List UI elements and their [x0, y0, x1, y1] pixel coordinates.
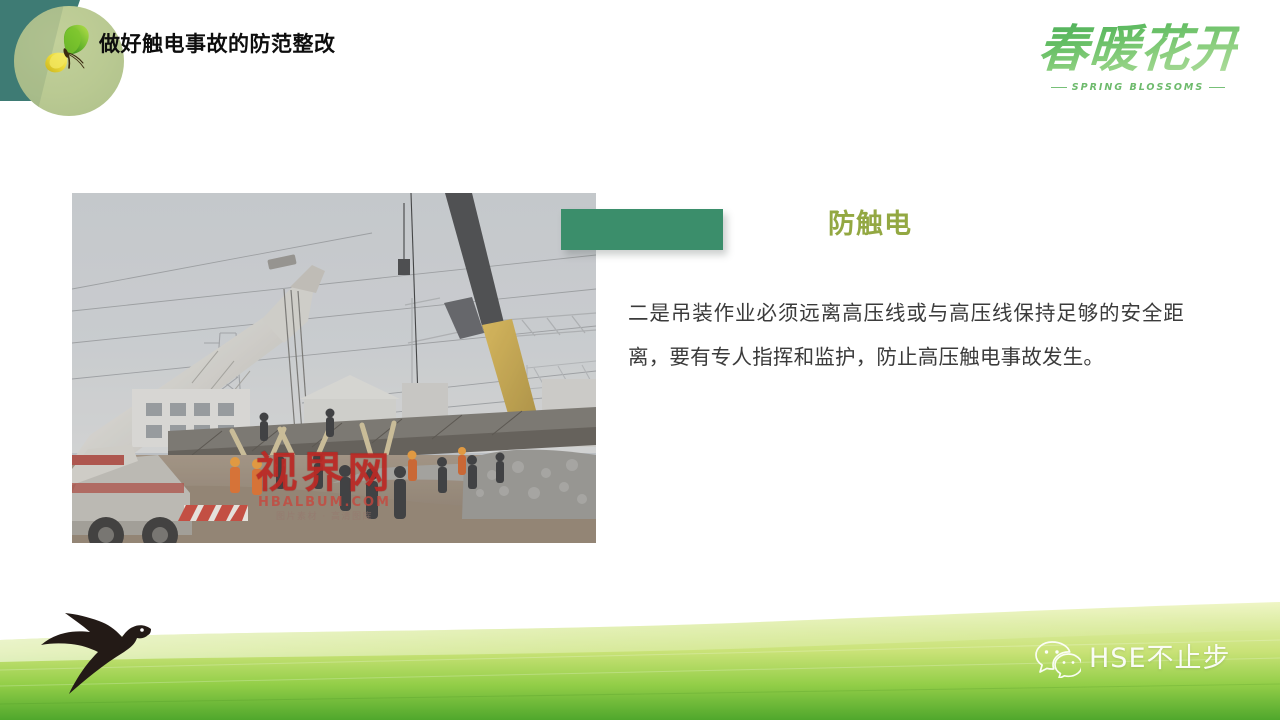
section-heading: 防触电 [828, 206, 912, 242]
body-paragraph: 二是吊装作业必须远离高压线或与高压线保持足够的安全距离，要有专人指挥和监护，防止… [628, 292, 1184, 380]
brand-rule-left [1051, 87, 1067, 89]
brand-logo-chinese: 春暖花开 [1036, 18, 1240, 80]
wechat-label: HSE不止步 [1089, 643, 1231, 675]
brand-rule-right [1209, 87, 1225, 89]
brand-logo-english-row: SPRING BLOSSOMS [1038, 82, 1238, 93]
butterfly-icon [36, 20, 98, 82]
slide-canvas: 做好触电事故的防范整改 春暖花开 SPRING BLOSSOMS [0, 0, 1280, 720]
brand-logo-english: SPRING BLOSSOMS [1072, 82, 1204, 93]
brand-logo: 春暖花开 SPRING BLOSSOMS [1038, 18, 1238, 110]
page-title: 做好触电事故的防范整改 [99, 31, 336, 59]
wechat-badge: HSE不止步 [1035, 640, 1231, 678]
swallow-bird-icon [38, 602, 158, 694]
construction-photo: 视界网 HBALBUM.COM 图片素材 · 高清图库 [72, 193, 596, 543]
green-accent-badge [561, 209, 723, 250]
wechat-icon [1035, 640, 1081, 678]
